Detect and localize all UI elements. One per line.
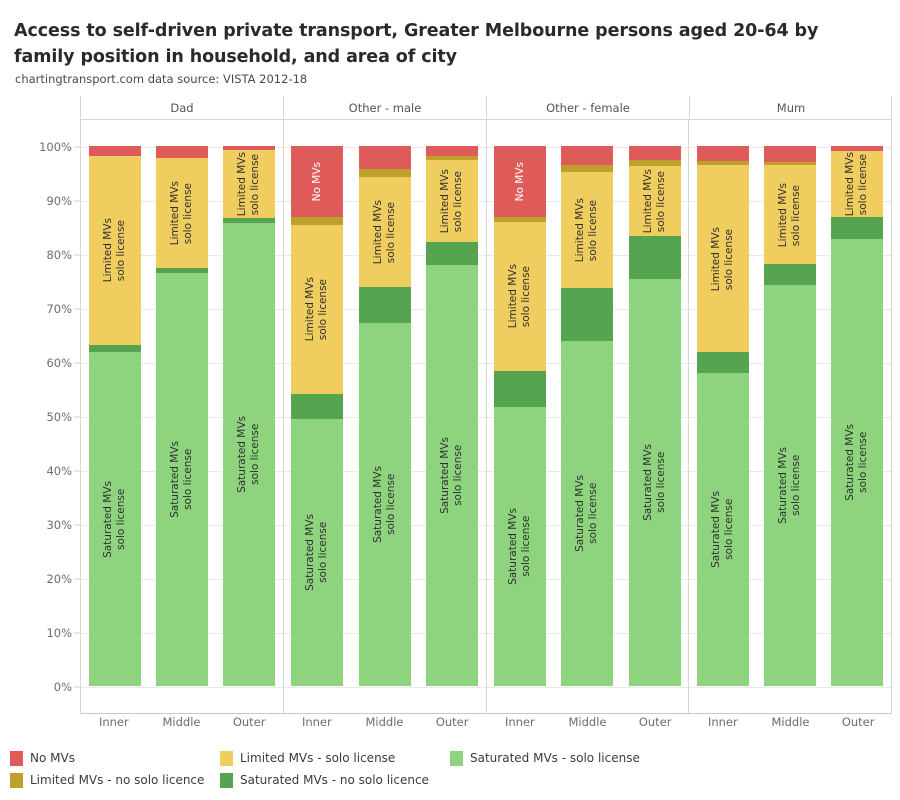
y-axis-tick-label: 50% — [46, 410, 72, 424]
bar-middle[interactable]: Limited MVs solo licenseSaturated MVs so… — [359, 120, 411, 713]
bar-segment[interactable]: Saturated MVs solo license — [561, 341, 613, 686]
x-axis-panel: InnerMiddleOuter — [486, 715, 689, 737]
facet-panels: Limited MVs solo licenseSaturated MVs so… — [81, 120, 891, 713]
legend-item[interactable]: Saturated MVs - no solo licence — [220, 773, 450, 788]
bar-segment[interactable]: Limited MVs solo license — [291, 225, 343, 394]
bar-segment[interactable] — [561, 288, 613, 341]
bar-segment[interactable] — [831, 217, 883, 240]
bar-segment-label: Limited MVs solo license — [439, 169, 465, 233]
bar-outer[interactable]: Limited MVs solo licenseSaturated MVs so… — [831, 120, 883, 713]
bar-segment[interactable] — [89, 345, 141, 353]
bar-segment-label: Saturated MVs solo license — [304, 514, 330, 591]
legend-item[interactable]: No MVs — [10, 751, 220, 766]
x-axis-tick-label: Middle — [358, 715, 410, 737]
bar-segment-label: Saturated MVs solo license — [710, 491, 736, 568]
facet-title-dad: Dad — [80, 96, 283, 119]
page-title: Access to self-driven private transport,… — [14, 18, 884, 70]
legend-item[interactable]: Saturated MVs - solo license — [450, 751, 680, 766]
x-axis-tick-label: Middle — [764, 715, 816, 737]
x-axis-tick-label: Outer — [223, 715, 275, 737]
y-axis-tick-label: 90% — [46, 194, 72, 208]
bar-middle[interactable]: Limited MVs solo licenseSaturated MVs so… — [764, 120, 816, 713]
bar-segment[interactable] — [561, 146, 613, 165]
y-axis-tick-label: 20% — [46, 572, 72, 586]
x-axis: InnerMiddleOuterInnerMiddleOuterInnerMid… — [80, 715, 892, 737]
bar-segment[interactable]: Limited MVs solo license — [359, 177, 411, 287]
panel-other-male: No MVsLimited MVs solo licenseSaturated … — [283, 120, 486, 713]
bar-segment[interactable] — [697, 352, 749, 373]
x-axis-tick-label: Inner — [697, 715, 749, 737]
x-axis-tick-label: Inner — [291, 715, 343, 737]
chart-subtitle: chartingtransport.com data source: VISTA… — [15, 72, 307, 86]
bar-segment[interactable]: Limited MVs solo license — [494, 222, 546, 372]
legend-row: Limited MVs - no solo licenceSaturated M… — [10, 769, 890, 791]
bar-segment[interactable]: No MVs — [291, 146, 343, 217]
facet-title-other-male: Other - male — [283, 96, 486, 119]
bar-segment-label: Saturated MVs solo license — [844, 424, 870, 501]
x-axis-tick-label: Outer — [426, 715, 478, 737]
y-axis-tick-label: 100% — [39, 140, 72, 154]
legend-swatch-icon — [10, 773, 23, 788]
bar-segment-label: Limited MVs solo license — [710, 227, 736, 291]
bar-inner[interactable]: Limited MVs solo licenseSaturated MVs so… — [697, 120, 749, 713]
bar-segment[interactable] — [629, 146, 681, 160]
bar-segment[interactable]: Limited MVs solo license — [426, 160, 478, 242]
legend-label: Saturated MVs - no solo licence — [240, 773, 429, 787]
legend-item[interactable]: Limited MVs - no solo licence — [10, 773, 220, 788]
bar-segment[interactable] — [494, 371, 546, 407]
bar-segment[interactable]: Saturated MVs solo license — [291, 419, 343, 686]
y-axis-tick-label: 80% — [46, 248, 72, 262]
bar-outer[interactable]: Limited MVs solo licenseSaturated MVs so… — [629, 120, 681, 713]
bar-segment-label: Limited MVs solo license — [507, 264, 533, 328]
bar-segment-label: Saturated MVs solo license — [372, 466, 398, 543]
bar-segment-label: Saturated MVs solo license — [439, 437, 465, 514]
legend-swatch-icon — [10, 751, 23, 766]
bar-segment-label: No MVs — [514, 162, 527, 201]
bar-segment[interactable] — [89, 146, 141, 156]
bar-segment[interactable]: Limited MVs solo license — [89, 156, 141, 345]
bar-segment[interactable]: Limited MVs solo license — [764, 165, 816, 264]
panel-mum: Limited MVs solo licenseSaturated MVs so… — [688, 120, 891, 713]
plot-area: Limited MVs solo licenseSaturated MVs so… — [80, 120, 892, 714]
bar-segment[interactable] — [426, 146, 478, 156]
legend-label: Limited MVs - solo license — [240, 751, 395, 765]
bar-segment[interactable]: Saturated MVs solo license — [223, 223, 275, 686]
bar-segment[interactable] — [426, 242, 478, 265]
legend-label: Limited MVs - no solo licence — [30, 773, 204, 787]
legend-label: No MVs — [30, 751, 75, 765]
bar-segment-label: Limited MVs solo license — [169, 181, 195, 245]
bar-segment[interactable]: Saturated MVs solo license — [697, 373, 749, 686]
bar-segment[interactable]: Saturated MVs solo license — [89, 352, 141, 686]
x-axis-panel: InnerMiddleOuter — [80, 715, 283, 737]
legend-swatch-icon — [450, 751, 463, 766]
y-axis: Share of population (VISTA sample) 0%10%… — [0, 120, 80, 714]
bar-inner[interactable]: No MVsLimited MVs solo licenseSaturated … — [291, 120, 343, 713]
panel-other-female: No MVsLimited MVs solo licenseSaturated … — [486, 120, 689, 713]
bar-segment[interactable]: Limited MVs solo license — [831, 151, 883, 217]
bar-segment-label: Limited MVs solo license — [642, 169, 668, 233]
bar-segment-label: Saturated MVs solo license — [507, 508, 533, 585]
bar-segment-label: Limited MVs solo license — [236, 152, 262, 216]
bar-segment[interactable]: Limited MVs solo license — [561, 172, 613, 287]
legend: No MVsLimited MVs - solo licenseSaturate… — [10, 747, 890, 791]
x-axis-tick-label: Middle — [561, 715, 613, 737]
bar-segment-label: No MVs — [311, 162, 324, 201]
bar-middle[interactable]: Limited MVs solo licenseSaturated MVs so… — [561, 120, 613, 713]
bar-outer[interactable]: Limited MVs solo licenseSaturated MVs so… — [426, 120, 478, 713]
x-axis-panel: InnerMiddleOuter — [283, 715, 486, 737]
bar-segment-label: Saturated MVs solo license — [574, 475, 600, 552]
legend-label: Saturated MVs - solo license — [470, 751, 640, 765]
bar-segment[interactable] — [561, 165, 613, 172]
bar-segment[interactable] — [764, 264, 816, 285]
bar-segment[interactable]: Limited MVs solo license — [629, 166, 681, 236]
x-axis-tick-label: Outer — [629, 715, 681, 737]
bar-segment[interactable]: Saturated MVs solo license — [156, 273, 208, 686]
bar-segment[interactable]: Limited MVs solo license — [697, 165, 749, 352]
bar-segment[interactable]: Saturated MVs solo license — [831, 239, 883, 686]
y-axis-tick-label: 60% — [46, 356, 72, 370]
bar-segment-label: Limited MVs solo license — [372, 200, 398, 264]
bar-segment[interactable]: Saturated MVs solo license — [629, 279, 681, 686]
bar-segment-label: Limited MVs solo license — [102, 218, 128, 282]
y-axis-tick-label: 40% — [46, 464, 72, 478]
bar-segment[interactable] — [764, 146, 816, 162]
bar-segment-label: Limited MVs solo license — [777, 183, 803, 247]
panel-dad: Limited MVs solo licenseSaturated MVs so… — [81, 120, 283, 713]
bar-segment[interactable]: Limited MVs solo license — [223, 150, 275, 219]
x-axis-tick-label: Outer — [832, 715, 884, 737]
x-axis-panel: InnerMiddleOuter — [689, 715, 892, 737]
bar-segment[interactable] — [629, 236, 681, 280]
facet-strip: DadOther - maleOther - femaleMum — [80, 96, 892, 120]
bar-segment[interactable] — [359, 169, 411, 178]
y-axis-tick-label: 70% — [46, 302, 72, 316]
bar-segment-label: Saturated MVs solo license — [642, 444, 668, 521]
bar-outer[interactable]: Limited MVs solo licenseSaturated MVs so… — [223, 120, 275, 713]
facet-title-mum: Mum — [689, 96, 892, 119]
bar-segment-label: Saturated MVs solo license — [236, 416, 262, 493]
facet-title-other-female: Other - female — [486, 96, 689, 119]
bar-segment[interactable]: Saturated MVs solo license — [426, 265, 478, 686]
bar-middle[interactable]: Limited MVs solo licenseSaturated MVs so… — [156, 120, 208, 713]
y-axis-tick-label: 30% — [46, 518, 72, 532]
legend-swatch-icon — [220, 773, 233, 788]
x-axis-tick-label: Inner — [494, 715, 546, 737]
x-axis-tick-label: Inner — [88, 715, 140, 737]
y-axis-tick-label: 10% — [46, 626, 72, 640]
bar-inner[interactable]: Limited MVs solo licenseSaturated MVs so… — [89, 120, 141, 713]
bar-segment-label: Limited MVs solo license — [574, 198, 600, 262]
bar-inner[interactable]: No MVsLimited MVs solo licenseSaturated … — [494, 120, 546, 713]
bar-segment[interactable] — [359, 146, 411, 169]
bar-segment[interactable]: Limited MVs solo license — [156, 158, 208, 268]
bar-segment-label: Saturated MVs solo license — [102, 481, 128, 558]
bar-segment[interactable] — [359, 287, 411, 323]
legend-row: No MVsLimited MVs - solo licenseSaturate… — [10, 747, 890, 769]
x-axis-tick-label: Middle — [155, 715, 207, 737]
bar-segment[interactable] — [291, 217, 343, 225]
bar-segment-label: Saturated MVs solo license — [777, 447, 803, 524]
bar-segment[interactable]: No MVs — [494, 146, 546, 217]
legend-item[interactable]: Limited MVs - solo license — [220, 751, 450, 766]
bar-segment-label: Limited MVs solo license — [844, 152, 870, 216]
legend-swatch-icon — [220, 751, 233, 766]
bar-segment-label: Limited MVs solo license — [304, 277, 330, 341]
bar-segment[interactable]: Saturated MVs solo license — [764, 285, 816, 686]
bar-segment[interactable] — [697, 146, 749, 161]
bar-segment-label: Saturated MVs solo license — [169, 441, 195, 518]
bar-segment[interactable]: Saturated MVs solo license — [494, 407, 546, 686]
bar-segment[interactable] — [156, 146, 208, 158]
y-axis-tick-label: 0% — [54, 680, 72, 694]
bar-segment[interactable]: Saturated MVs solo license — [359, 323, 411, 686]
bar-segment[interactable] — [291, 394, 343, 419]
chart-root: Access to self-driven private transport,… — [0, 0, 900, 800]
